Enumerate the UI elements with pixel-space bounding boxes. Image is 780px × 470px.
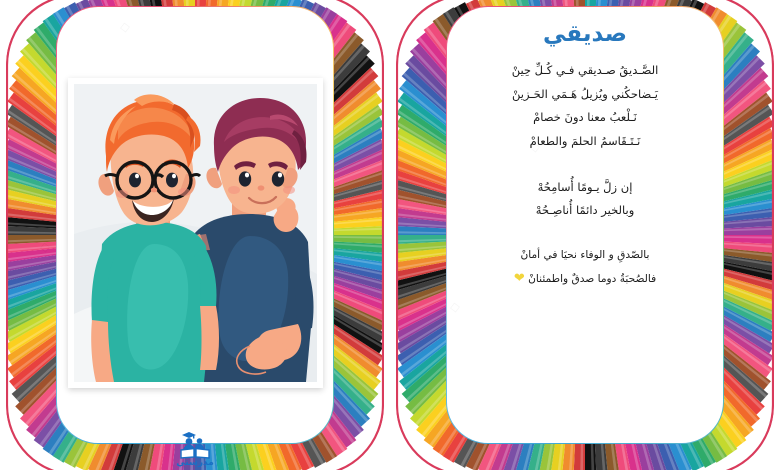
poem-line: نَـلْعبُ معنا دونَ خصامْ: [460, 106, 710, 130]
poem-line: يَـضاحكُني ويُزيلُ هَـمَي الحَـزينْ: [460, 83, 710, 107]
poem-line-with-heart: فالصُحبَةُ دوما صدقٌ واطمئنانْ ❤: [460, 266, 710, 293]
heart-icon: ❤: [514, 271, 525, 286]
poem-line: وبالخير دائمًا أُناصِـحُهْ: [460, 199, 710, 223]
stanza-2: إن زلَّ يـومًا أُسامِحُهْ وبالخير دائمًا…: [460, 176, 710, 223]
stanza-3: بالصّدقِ و الوفاء نحيَا في أمانْ فالصُحب…: [460, 245, 710, 293]
boy-with-glasses: [91, 94, 219, 382]
photo-frame: [68, 78, 323, 388]
two-boys-svg: [74, 84, 317, 382]
poem-panel: صديقي الصَّـديقُ صـديقي فـي كُـلِّ حِينْ…: [390, 0, 780, 470]
poem-line: نَـتَـقَاسمُ الحلمَ والطعامْ: [460, 130, 710, 154]
poem-line: إن زلَّ يـومًا أُسامِحُهْ: [460, 176, 710, 200]
graduate-reading-book-icon: [178, 429, 212, 459]
poem-line-text: فالصُحبَةُ دوما صدقٌ واطمئنانْ: [528, 273, 656, 285]
stanza-1: الصَّـديقُ صـديقي فـي كُـلِّ حِينْ يَـضا…: [460, 59, 710, 153]
poem-line: بالصّدقِ و الوفاء نحيَا في أمانْ: [460, 245, 710, 267]
worksheet-page: مدرستي ◇ ◇ صديقي الصَّـديقُ صـديقي فـي ك…: [0, 0, 780, 470]
friends-illustration: [74, 84, 317, 382]
brand-logo: مدرستي: [155, 429, 235, 468]
poem-content: صديقي الصَّـديقُ صـديقي فـي كُـلِّ حِينْ…: [452, 16, 718, 426]
illustration-panel: مدرستي ◇ ◇: [0, 0, 390, 470]
poem-line: الصَّـديقُ صـديقي فـي كُـلِّ حِينْ: [460, 59, 710, 83]
page-title: صديقي: [460, 22, 710, 47]
brand-name: مدرستي: [155, 458, 235, 468]
